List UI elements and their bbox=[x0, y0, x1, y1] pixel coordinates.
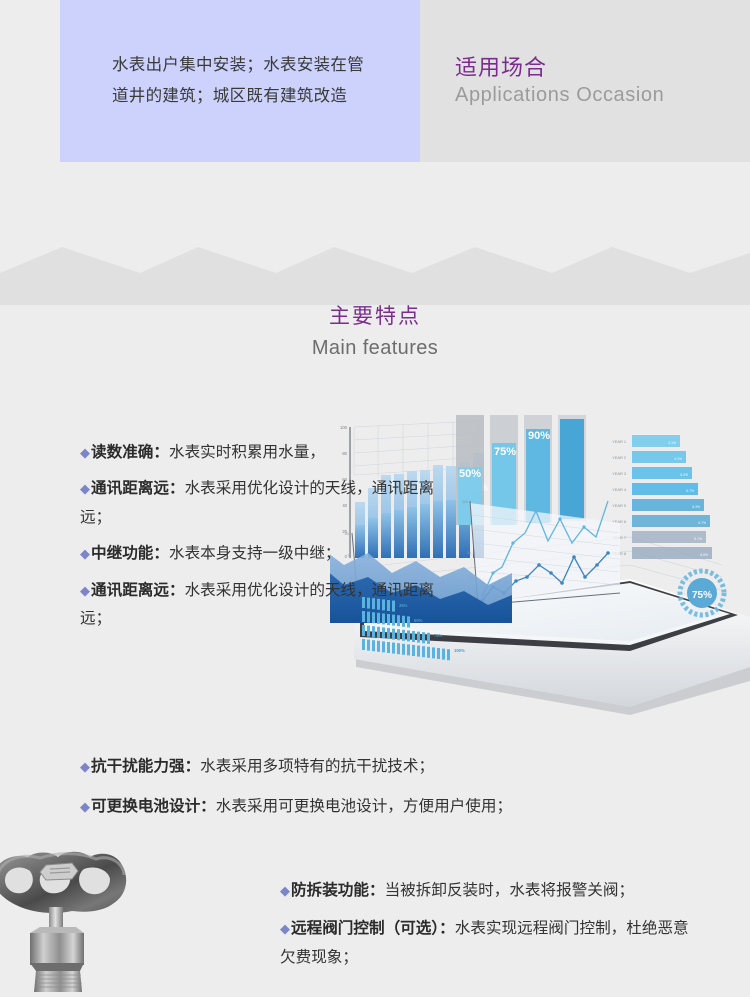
svg-text:4.1%: 4.1% bbox=[674, 457, 682, 461]
feature-item: ◆中继功能：水表本身支持一级中继； bbox=[80, 539, 460, 567]
page-root: 水表出户集中安装；水表安装在管道井的建筑；城区既有建筑改造 适用场合 Appli… bbox=[0, 0, 750, 992]
valve-photo bbox=[0, 845, 182, 992]
callout-75: 75% bbox=[494, 446, 516, 458]
feature-label: 远程阀门控制（可选）： bbox=[291, 919, 455, 937]
banner-description: 水表出户集中安装；水表安装在管道井的建筑；城区既有建筑改造 bbox=[60, 50, 420, 111]
feature-text: 水表采用可更换电池设计，方便用户使用； bbox=[216, 797, 512, 815]
svg-text:5.2%: 5.2% bbox=[680, 473, 688, 477]
feature-label: 中继功能： bbox=[91, 544, 169, 562]
diamond-bullet-icon: ◆ bbox=[280, 884, 290, 899]
svg-text:5.7%: 5.7% bbox=[686, 489, 694, 493]
feature-label: 通讯距离远： bbox=[91, 479, 185, 497]
svg-text:6.7%: 6.7% bbox=[698, 521, 706, 525]
section-title-en: Main features bbox=[0, 337, 750, 360]
feature-item: ◆可更换电池设计：水表采用可更换电池设计，方便用户使用； bbox=[80, 792, 700, 820]
banner-title-cn: 适用场合 bbox=[455, 55, 750, 83]
feature-item: ◆抗干扰能力强：水表采用多项特有的抗干扰技术； bbox=[80, 752, 700, 780]
features-mid-list: ◆抗干扰能力强：水表采用多项特有的抗干扰技术； ◆可更换电池设计：水表采用可更换… bbox=[80, 752, 700, 833]
svg-text:6.3%: 6.3% bbox=[692, 505, 700, 509]
valve-body bbox=[34, 971, 82, 992]
banner-right-panel: 适用场合 Applications Occasion bbox=[420, 0, 750, 162]
gauge-value: 75% bbox=[692, 590, 712, 601]
svg-text:6.5%: 6.5% bbox=[700, 553, 708, 557]
svg-text:5.7%: 5.7% bbox=[694, 537, 702, 541]
feature-item: ◆远程阀门控制（可选）：水表实现远程阀门控制，杜绝恶意欠费现象； bbox=[280, 914, 700, 971]
handwheel bbox=[0, 852, 126, 913]
svg-text:YEAR 4: YEAR 4 bbox=[612, 487, 627, 492]
diamond-bullet-icon: ◆ bbox=[80, 584, 90, 599]
feature-label: 防拆装功能： bbox=[291, 881, 385, 899]
diamond-bullet-icon: ◆ bbox=[80, 800, 90, 815]
dot-label-100: 100% bbox=[454, 648, 465, 653]
feature-text: 水表本身支持一级中继； bbox=[169, 544, 341, 562]
section-title-cn: 主要特点 bbox=[0, 300, 750, 330]
svg-text:YEAR 2: YEAR 2 bbox=[612, 455, 626, 460]
svg-text:3.1%: 3.1% bbox=[668, 441, 676, 445]
svg-text:YEAR 3: YEAR 3 bbox=[612, 471, 626, 476]
diamond-bullet-icon: ◆ bbox=[80, 482, 90, 497]
feature-item: ◆通讯距离远：水表采用优化设计的天线，通讯距离远； bbox=[80, 576, 460, 633]
feature-item: ◆读数准确：水表实时积累用水量， bbox=[80, 438, 460, 466]
svg-text:75: 75 bbox=[465, 525, 469, 529]
feature-label: 抗干扰能力强： bbox=[91, 757, 200, 775]
callout-90: 90% bbox=[528, 430, 550, 442]
callout-50: 50% bbox=[459, 468, 481, 480]
feature-label: 可更换电池设计： bbox=[91, 797, 216, 815]
section-heading: 主要特点 Main features bbox=[0, 300, 750, 360]
banner-left-panel: 水表出户集中安装；水表安装在管道井的建筑；城区既有建筑改造 bbox=[60, 0, 420, 162]
svg-text:100: 100 bbox=[340, 425, 348, 430]
zigzag-divider bbox=[0, 175, 750, 305]
feature-text: 当被拆卸反装时，水表将报警关阀； bbox=[385, 881, 635, 899]
svg-text:YEAR 5: YEAR 5 bbox=[612, 503, 626, 508]
valve-packing-nut bbox=[30, 927, 84, 971]
year-list: YEAR 1YEAR 2 YEAR 3YEAR 4 YEAR 5YEAR 6 Y… bbox=[612, 435, 712, 559]
feature-item: ◆通讯距离远：水表采用优化设计的天线，通讯距离远； bbox=[80, 474, 460, 531]
features-bottom-list: ◆防拆装功能：当被拆卸反装时，水表将报警关阀； ◆远程阀门控制（可选）：水表实现… bbox=[280, 876, 700, 981]
feature-text: 水表实时积累用水量， bbox=[169, 443, 325, 461]
feature-item: ◆防拆装功能：当被拆卸反装时，水表将报警关阀； bbox=[280, 876, 700, 904]
svg-text:YEAR 1: YEAR 1 bbox=[612, 439, 626, 444]
diamond-bullet-icon: ◆ bbox=[80, 760, 90, 775]
svg-text:50: 50 bbox=[467, 551, 471, 555]
feature-label: 读数准确： bbox=[91, 443, 169, 461]
diamond-bullet-icon: ◆ bbox=[80, 446, 90, 461]
feature-label: 通讯距离远： bbox=[91, 581, 185, 599]
banner-title-en: Applications Occasion bbox=[455, 84, 750, 107]
valve-svg bbox=[0, 845, 182, 992]
diamond-bullet-icon: ◆ bbox=[80, 547, 90, 562]
svg-text:100: 100 bbox=[462, 500, 468, 504]
diamond-bullet-icon: ◆ bbox=[280, 922, 290, 937]
features-top-list: ◆读数准确：水表实时积累用水量， ◆通讯距离远：水表采用优化设计的天线，通讯距离… bbox=[80, 438, 460, 640]
feature-text: 水表采用多项特有的抗干扰技术； bbox=[200, 757, 434, 775]
applications-banner: 水表出户集中安装；水表安装在管道井的建筑；城区既有建筑改造 适用场合 Appli… bbox=[60, 0, 750, 162]
